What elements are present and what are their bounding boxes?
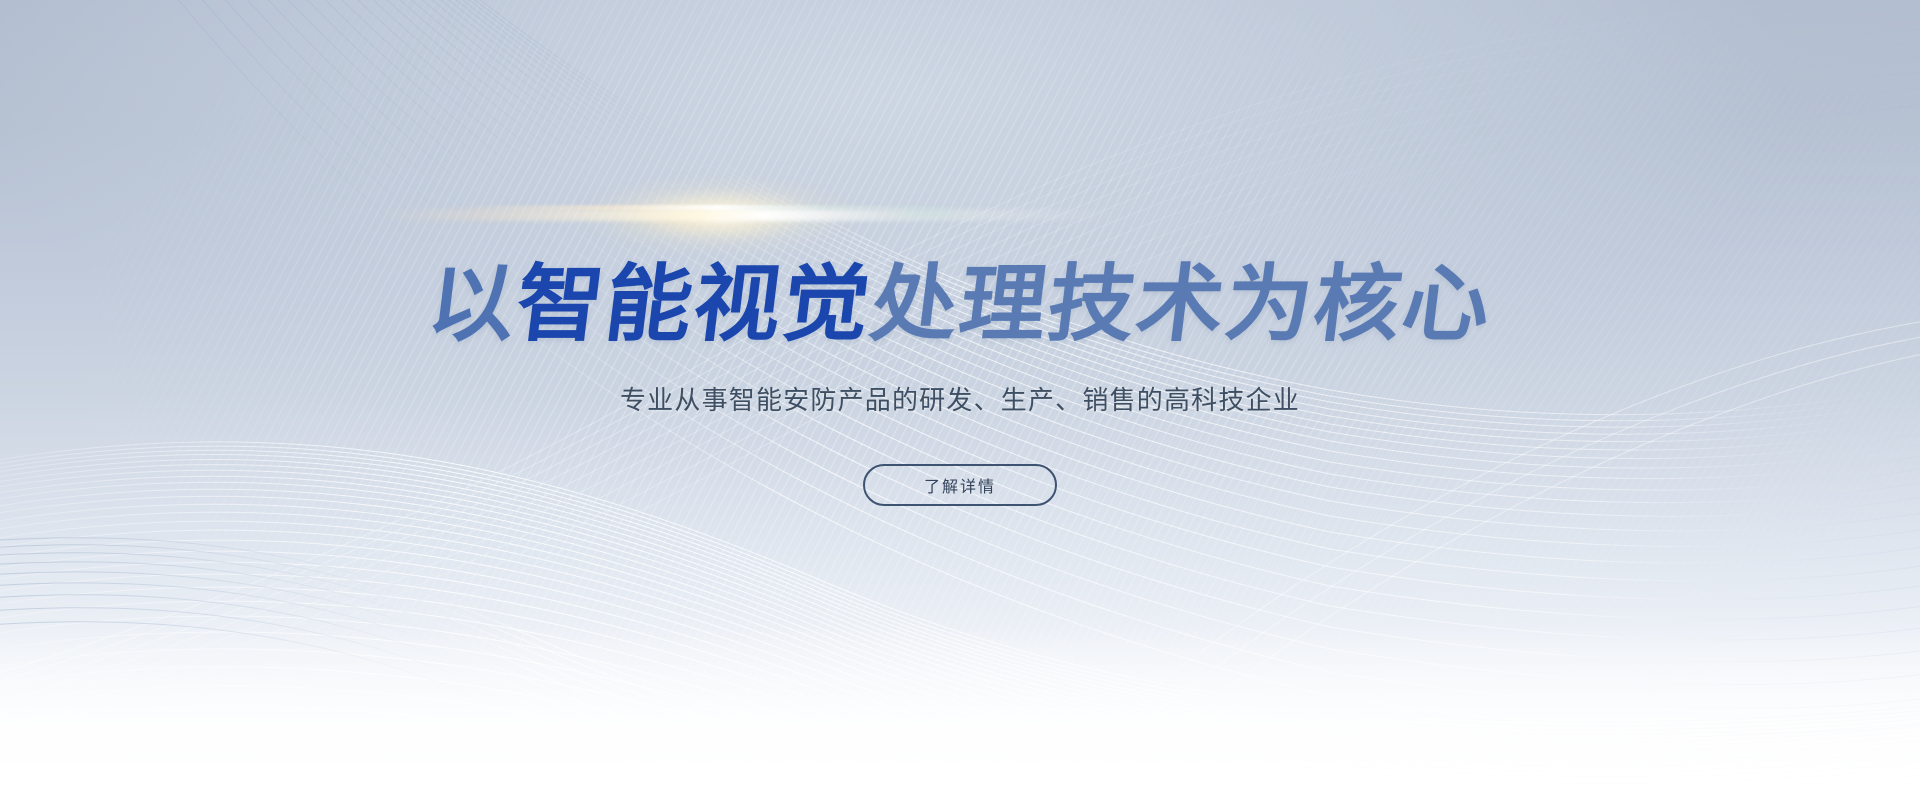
diagonal-sheen-secondary-decoration xyxy=(420,0,1920,780)
headline-segment-3: 处理技术为核心 xyxy=(866,257,1498,351)
headline-segment-1: 以 xyxy=(423,257,523,351)
lens-flare-tint xyxy=(620,195,830,239)
wave-svg xyxy=(0,0,1920,800)
diagonal-sheen-decoration xyxy=(0,0,1920,740)
lens-flare-streak-inner xyxy=(455,205,975,210)
learn-more-button[interactable]: 了解详情 xyxy=(863,464,1057,506)
headline-segment-2: 智能视觉 xyxy=(511,257,877,351)
hero-content: 以智能视觉处理技术为核心 专业从事智能安防产品的研发、生产、销售的高科技企业 了… xyxy=(0,0,1920,800)
lens-flare-core xyxy=(585,175,855,255)
lens-flare-streak xyxy=(380,209,1120,221)
lens-flare-ghost xyxy=(880,206,970,220)
hero-headline: 以智能视觉处理技术为核心 xyxy=(423,262,1496,346)
wave-background-decoration xyxy=(0,0,1920,800)
bottom-fade-overlay xyxy=(0,620,1920,800)
hero-cta-wrapper: 了解详情 xyxy=(863,464,1057,506)
hero-subtitle: 专业从事智能安防产品的研发、生产、销售的高科技企业 xyxy=(620,384,1300,418)
hero-banner: 以智能视觉处理技术为核心 专业从事智能安防产品的研发、生产、销售的高科技企业 了… xyxy=(0,0,1920,800)
